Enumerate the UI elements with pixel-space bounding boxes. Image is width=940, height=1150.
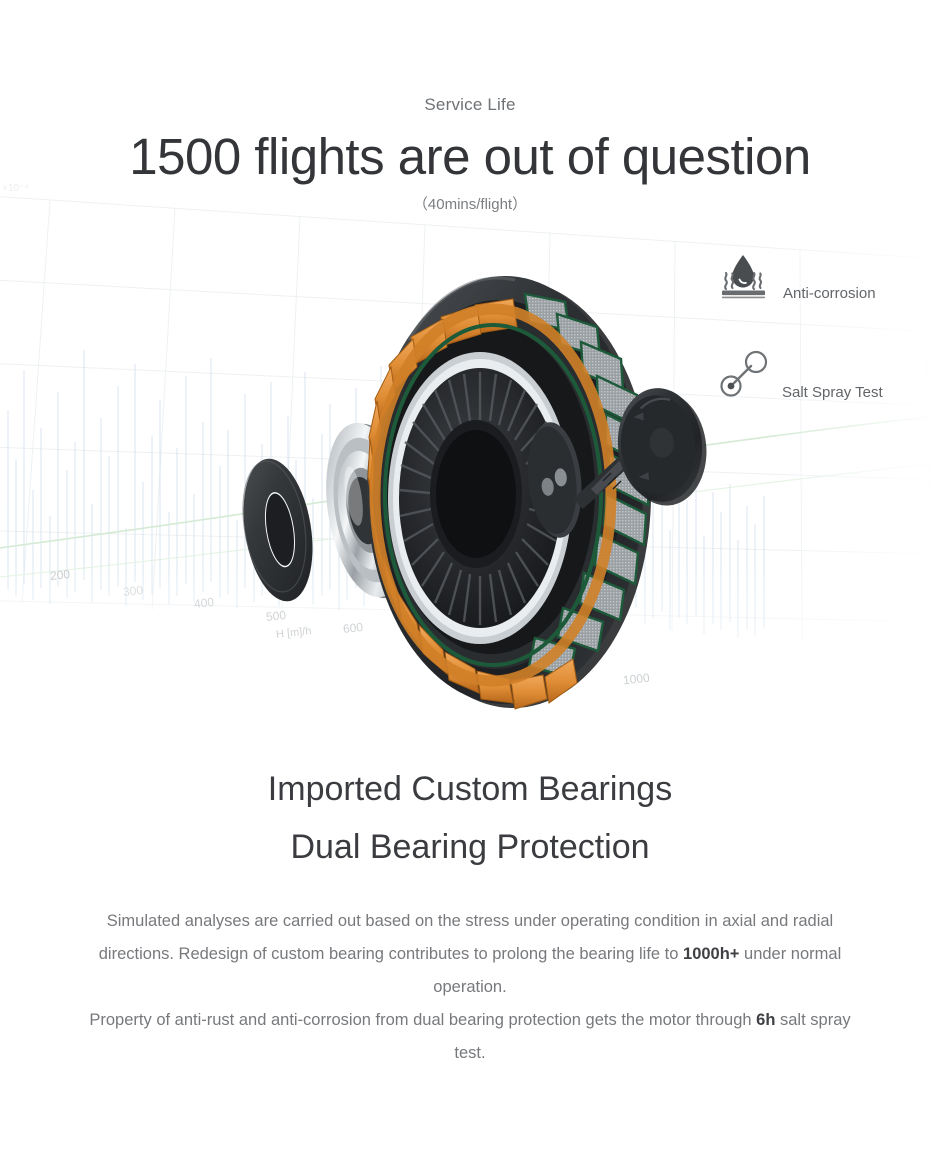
part-rubber-washer — [234, 454, 322, 607]
section-heading: Imported Custom Bearings Dual Bearing Pr… — [0, 760, 940, 877]
p2-accent-value: 6h — [756, 1011, 775, 1029]
callout-salt-spray-test: Salt Spray Test — [718, 350, 883, 398]
spray-nozzle-icon — [718, 350, 770, 398]
callout-anti-corrosion: Anti-corrosion — [716, 252, 876, 300]
body-copy: Simulated analyses are carried out based… — [0, 905, 940, 1070]
axis-tick-200: 200 — [49, 567, 70, 583]
headline-subnote: （40mins/flight） — [0, 197, 940, 212]
callout-label-salt-spray-test: Salt Spray Test — [782, 384, 883, 401]
header-block: Service Life 1500 flights are out of que… — [0, 0, 940, 212]
eyebrow-label: Service Life — [0, 96, 940, 113]
bottom-block: Imported Custom Bearings Dual Bearing Pr… — [0, 760, 940, 1070]
paragraph-salt-spray: Property of anti-rust and anti-corrosion… — [78, 1004, 862, 1070]
callout-label-anti-corrosion: Anti-corrosion — [783, 285, 876, 302]
brushless-motor-exploded-view — [210, 255, 770, 725]
paragraph-bearing-life: Simulated analyses are carried out based… — [78, 905, 862, 1004]
page-title: 1500 flights are out of question — [0, 130, 940, 184]
page-root: 200 300 400 500 600 900 1000 H [m]/h ×10… — [0, 0, 940, 1150]
p1-accent-value: 1000h+ — [683, 945, 739, 963]
section-heading-line-1: Imported Custom Bearings — [0, 760, 940, 818]
axis-tick-300: 300 — [122, 583, 143, 599]
water-drop-corrosion-icon — [716, 252, 770, 300]
p2-text-before: Property of anti-rust and anti-corrosion… — [89, 1011, 756, 1029]
section-heading-line-2: Dual Bearing Protection — [0, 818, 940, 876]
